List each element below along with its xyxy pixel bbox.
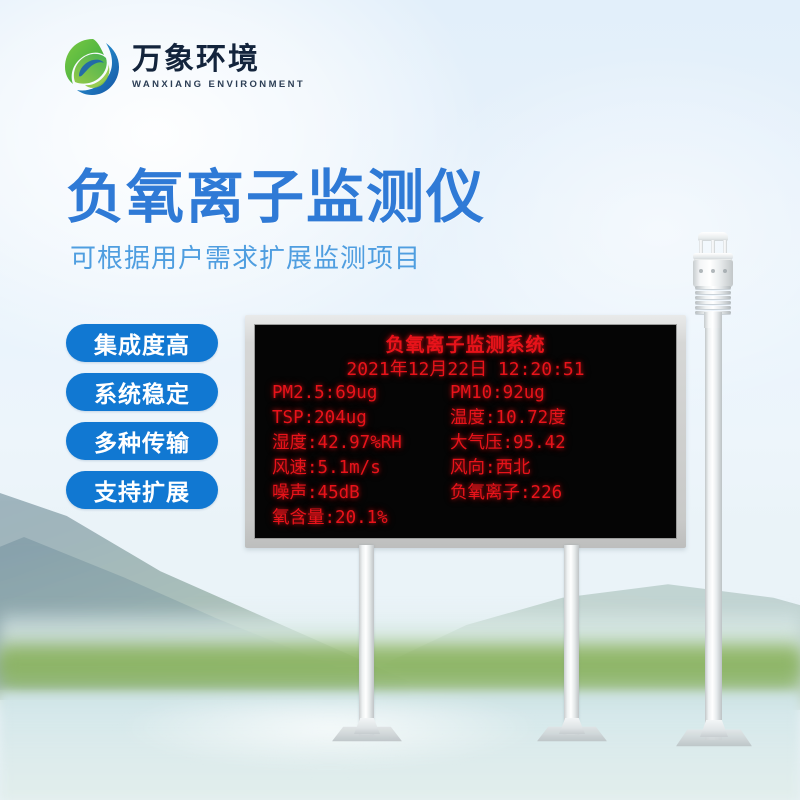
shield-fin [695,306,731,309]
reading-temperature: 温度:10.72度 [450,406,676,431]
board-support-post-left [359,545,374,735]
led-display-board: 负氧离子监测系统 2021年12月22日 12:20:51 PM2.5:69ug… [245,315,686,548]
shield-fin [695,301,731,304]
feature-badge: 系统稳定 [66,373,218,411]
green-field-core [0,648,800,682]
feature-badge: 集成度高 [66,324,218,362]
brand-name-cn: 万象环境 [132,44,305,76]
shield-fin [695,286,731,289]
feature-badge: 多种传输 [66,422,218,460]
radiation-shield [695,286,731,314]
reading-pressure: 大气压:95.42 [450,431,676,456]
sensor-body [693,259,733,287]
sensor-leg [699,240,703,254]
reading-tsp: TSP:204ug [272,406,450,431]
sensor-cap-legs [698,240,728,254]
led-screen: 负氧离子监测系统 2021年12月22日 12:20:51 PM2.5:69ug… [254,324,677,539]
feature-badge-list: 集成度高 系统稳定 多种传输 支持扩展 [66,324,218,509]
globe-swirl-icon [62,36,122,98]
reading-pm10: PM10:92ug [450,381,676,406]
shield-fin [695,296,731,299]
weather-sensor-icon [684,232,742,324]
sensor-port [723,269,727,273]
led-datetime: 2021年12月22日 12:20:51 [255,355,676,381]
sensor-mast [705,320,722,740]
sensor-leg [723,240,727,254]
led-readings-grid: PM2.5:69ug PM10:92ug TSP:204ug 温度:10.72度… [255,381,676,534]
brand-logo: 万象环境 WANXIANG ENVIRONMENT [62,36,305,98]
product-poster: 万象环境 WANXIANG ENVIRONMENT 负氧离子监测仪 可根据用户需… [0,0,800,800]
reading-oxygen: 氧含量:20.1% [272,506,450,531]
sensor-neck [704,312,722,328]
water-sheen [120,700,540,770]
shield-fin [695,291,731,294]
reading-wind-speed: 风速:5.1m/s [272,456,450,481]
page-subtitle: 可根据用户需求扩展监测项目 [70,238,421,275]
reading-negative-ion: 负氧离子:226 [450,481,676,506]
sensor-leg [711,240,715,254]
sensor-port [699,269,703,273]
reading-pm25: PM2.5:69ug [272,381,450,406]
brand-name-en: WANXIANG ENVIRONMENT [132,79,305,90]
board-support-post-right [564,545,579,735]
led-system-title: 负氧离子监测系统 [255,330,676,357]
reading-humidity: 湿度:42.97%RH [272,431,450,456]
reading-noise: 噪声:45dB [272,481,450,506]
feature-badge: 支持扩展 [66,471,218,509]
reading-wind-direction: 风向:西北 [450,456,676,481]
page-title: 负氧离子监测仪 [66,150,486,234]
sensor-port [711,269,715,273]
